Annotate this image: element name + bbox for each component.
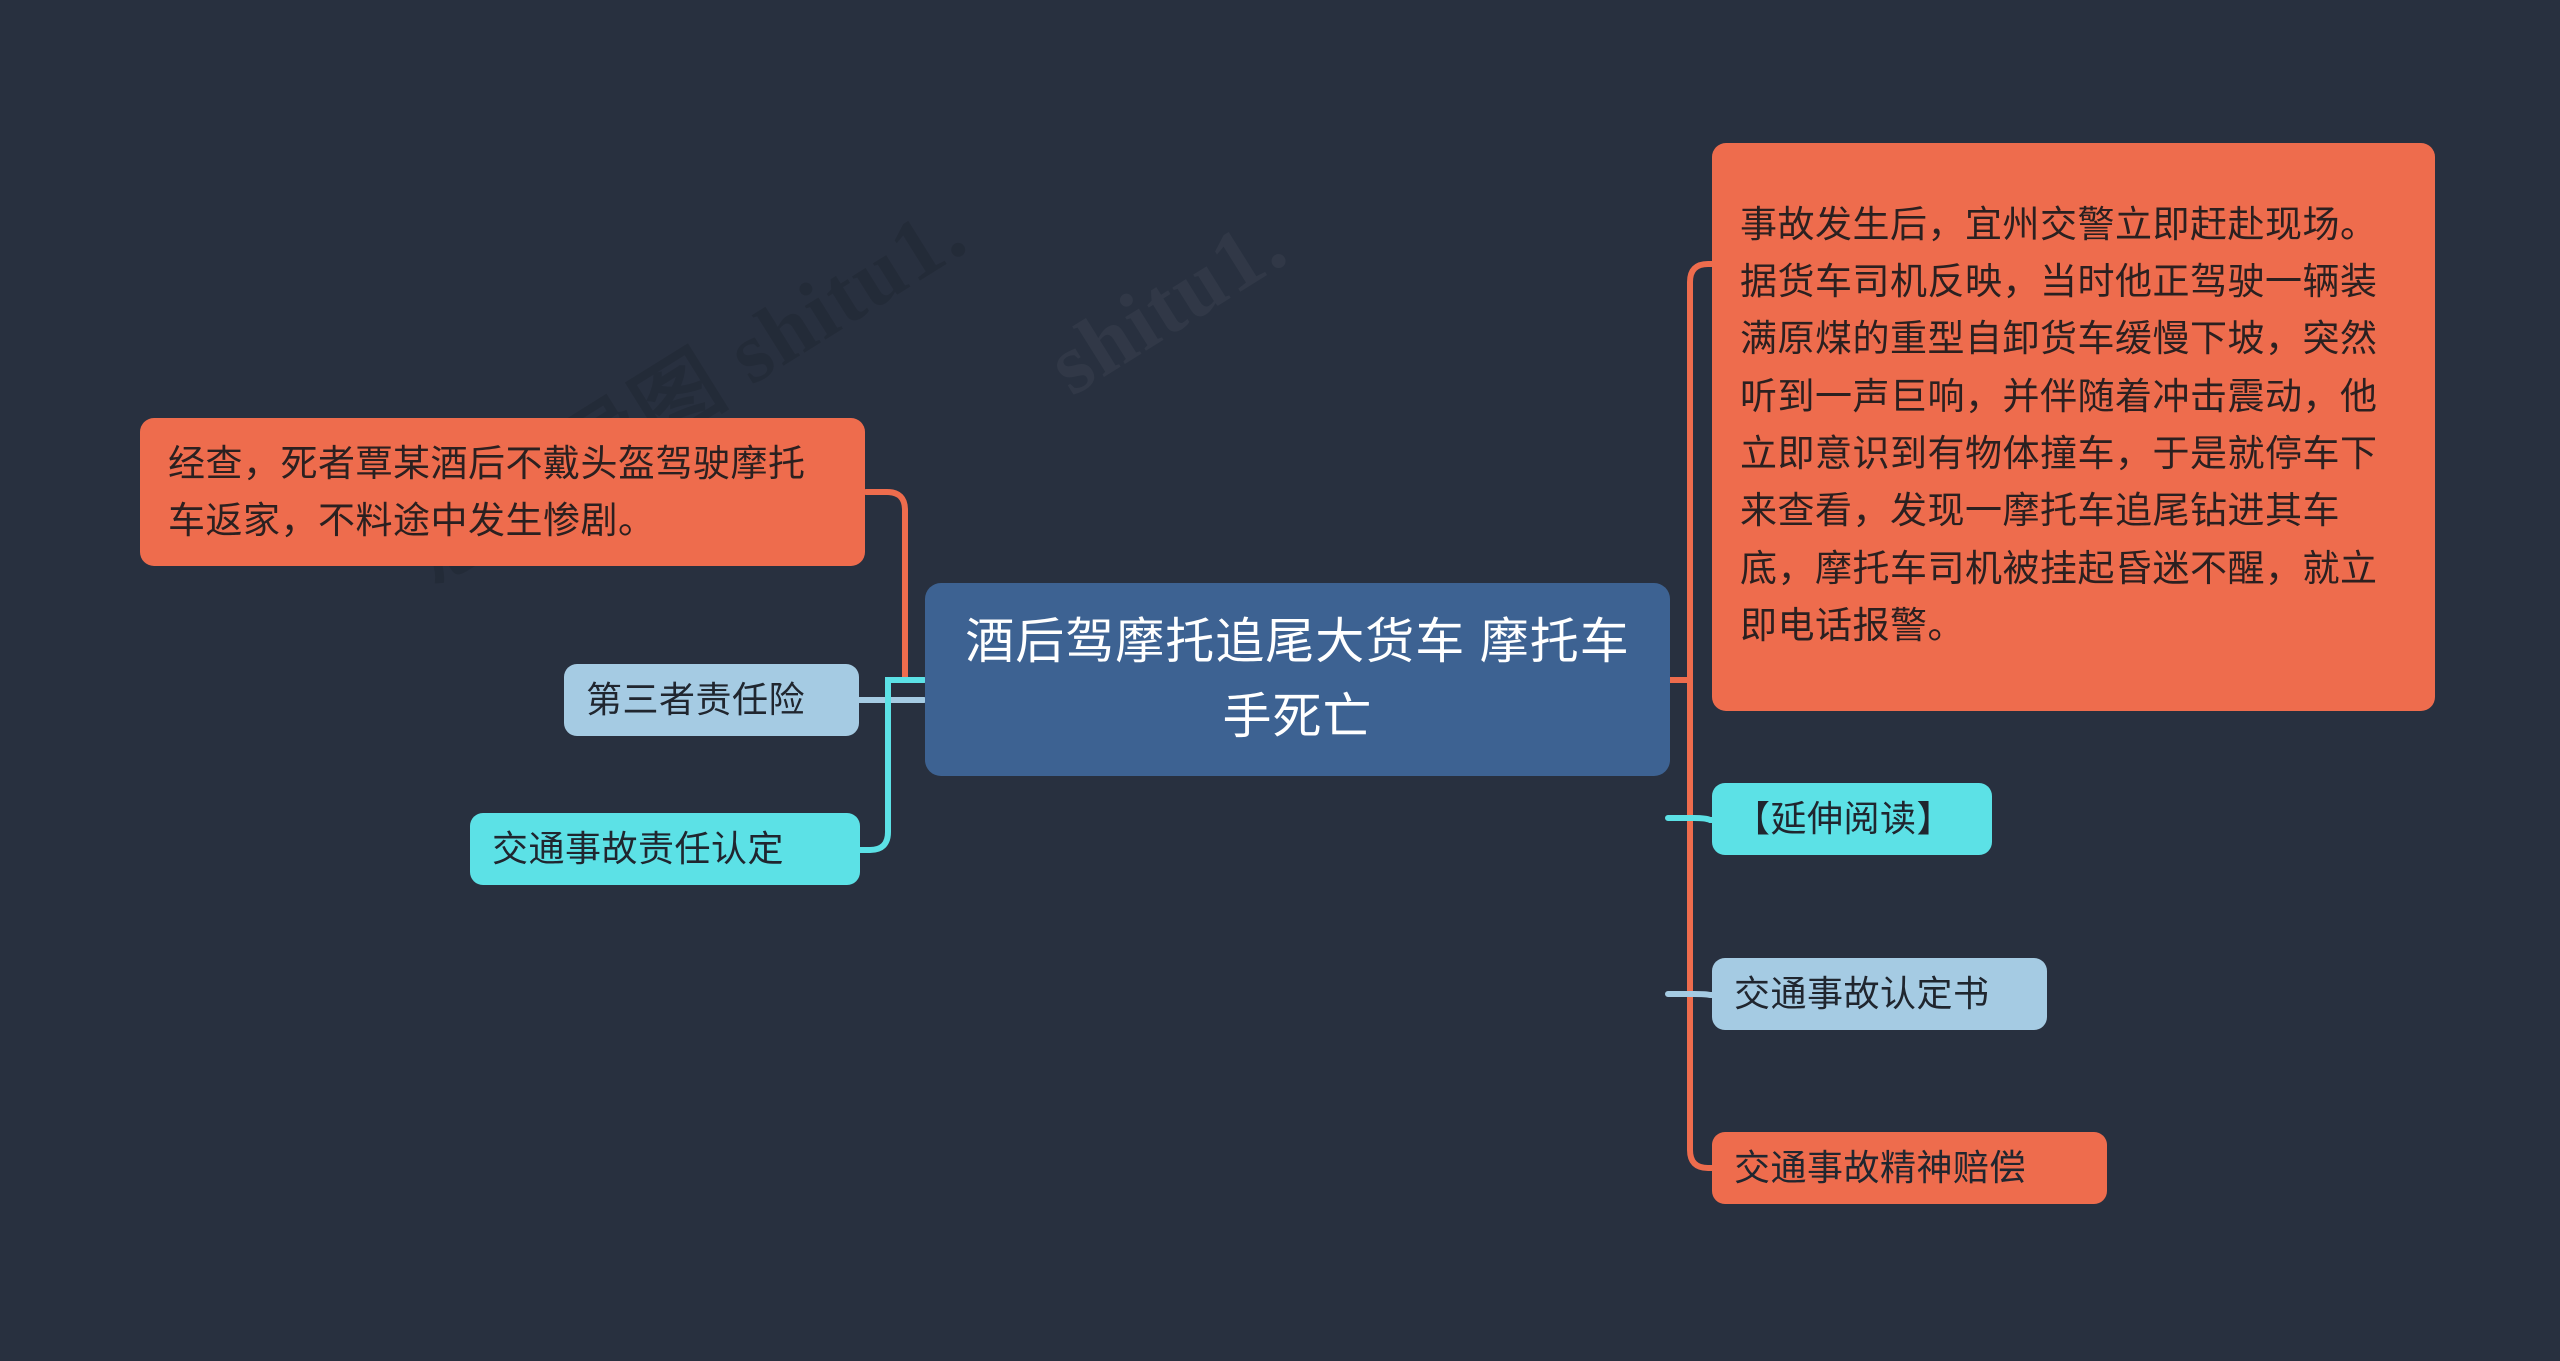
- watermark-text: shitu1.: [1030, 192, 1304, 415]
- connector-extended: [1668, 818, 1716, 820]
- connector-right-trunk: [1670, 264, 1714, 680]
- central-topic-node[interactable]: 酒后驾摩托追尾大货车 摩托车手死亡: [925, 583, 1670, 776]
- mindmap-canvas[interactable]: 思维导图 shitu1. 思维导图 shitu1. shitu1. 酒后驾摩托追…: [0, 0, 2560, 1361]
- branch-label: 【延伸阅读】: [1734, 792, 1970, 847]
- connector-liability: [859, 680, 924, 850]
- branch-label: 交通事故责任认定: [492, 822, 838, 877]
- branch-node-mental-compensation[interactable]: 交通事故精神赔偿: [1712, 1132, 2107, 1204]
- central-topic-label: 酒后驾摩托追尾大货车 摩托车手死亡: [955, 605, 1640, 754]
- branch-node-accident-report[interactable]: 事故发生后，宜州交警立即赶赴现场。据货车司机反映，当时他正驾驶一辆装满原煤的重型…: [1712, 143, 2435, 711]
- connector-accident-doc: [1668, 994, 1716, 995]
- branch-label: 第三者责任险: [586, 673, 837, 728]
- branch-label: 事故发生后，宜州交警立即赶赴现场。据货车司机反映，当时他正驾驶一辆装满原煤的重型…: [1740, 196, 2409, 655]
- branch-node-liability-determination[interactable]: 交通事故责任认定: [470, 813, 860, 885]
- connector-left-para: [866, 492, 924, 680]
- branch-node-third-party-insurance[interactable]: 第三者责任险: [564, 664, 859, 736]
- branch-node-accident-certificate[interactable]: 交通事故认定书: [1712, 958, 2047, 1030]
- branch-label: 交通事故认定书: [1734, 967, 2025, 1022]
- branch-node-extended-reading[interactable]: 【延伸阅读】: [1712, 783, 1992, 855]
- branch-node-investigation[interactable]: 经查，死者覃某酒后不戴头盔驾驶摩托车返家，不料途中发生惨剧。: [140, 418, 865, 566]
- branch-label: 经查，死者覃某酒后不戴头盔驾驶摩托车返家，不料途中发生惨剧。: [168, 435, 839, 550]
- connector-right-spine: [1690, 680, 1714, 1168]
- branch-label: 交通事故精神赔偿: [1734, 1141, 2085, 1196]
